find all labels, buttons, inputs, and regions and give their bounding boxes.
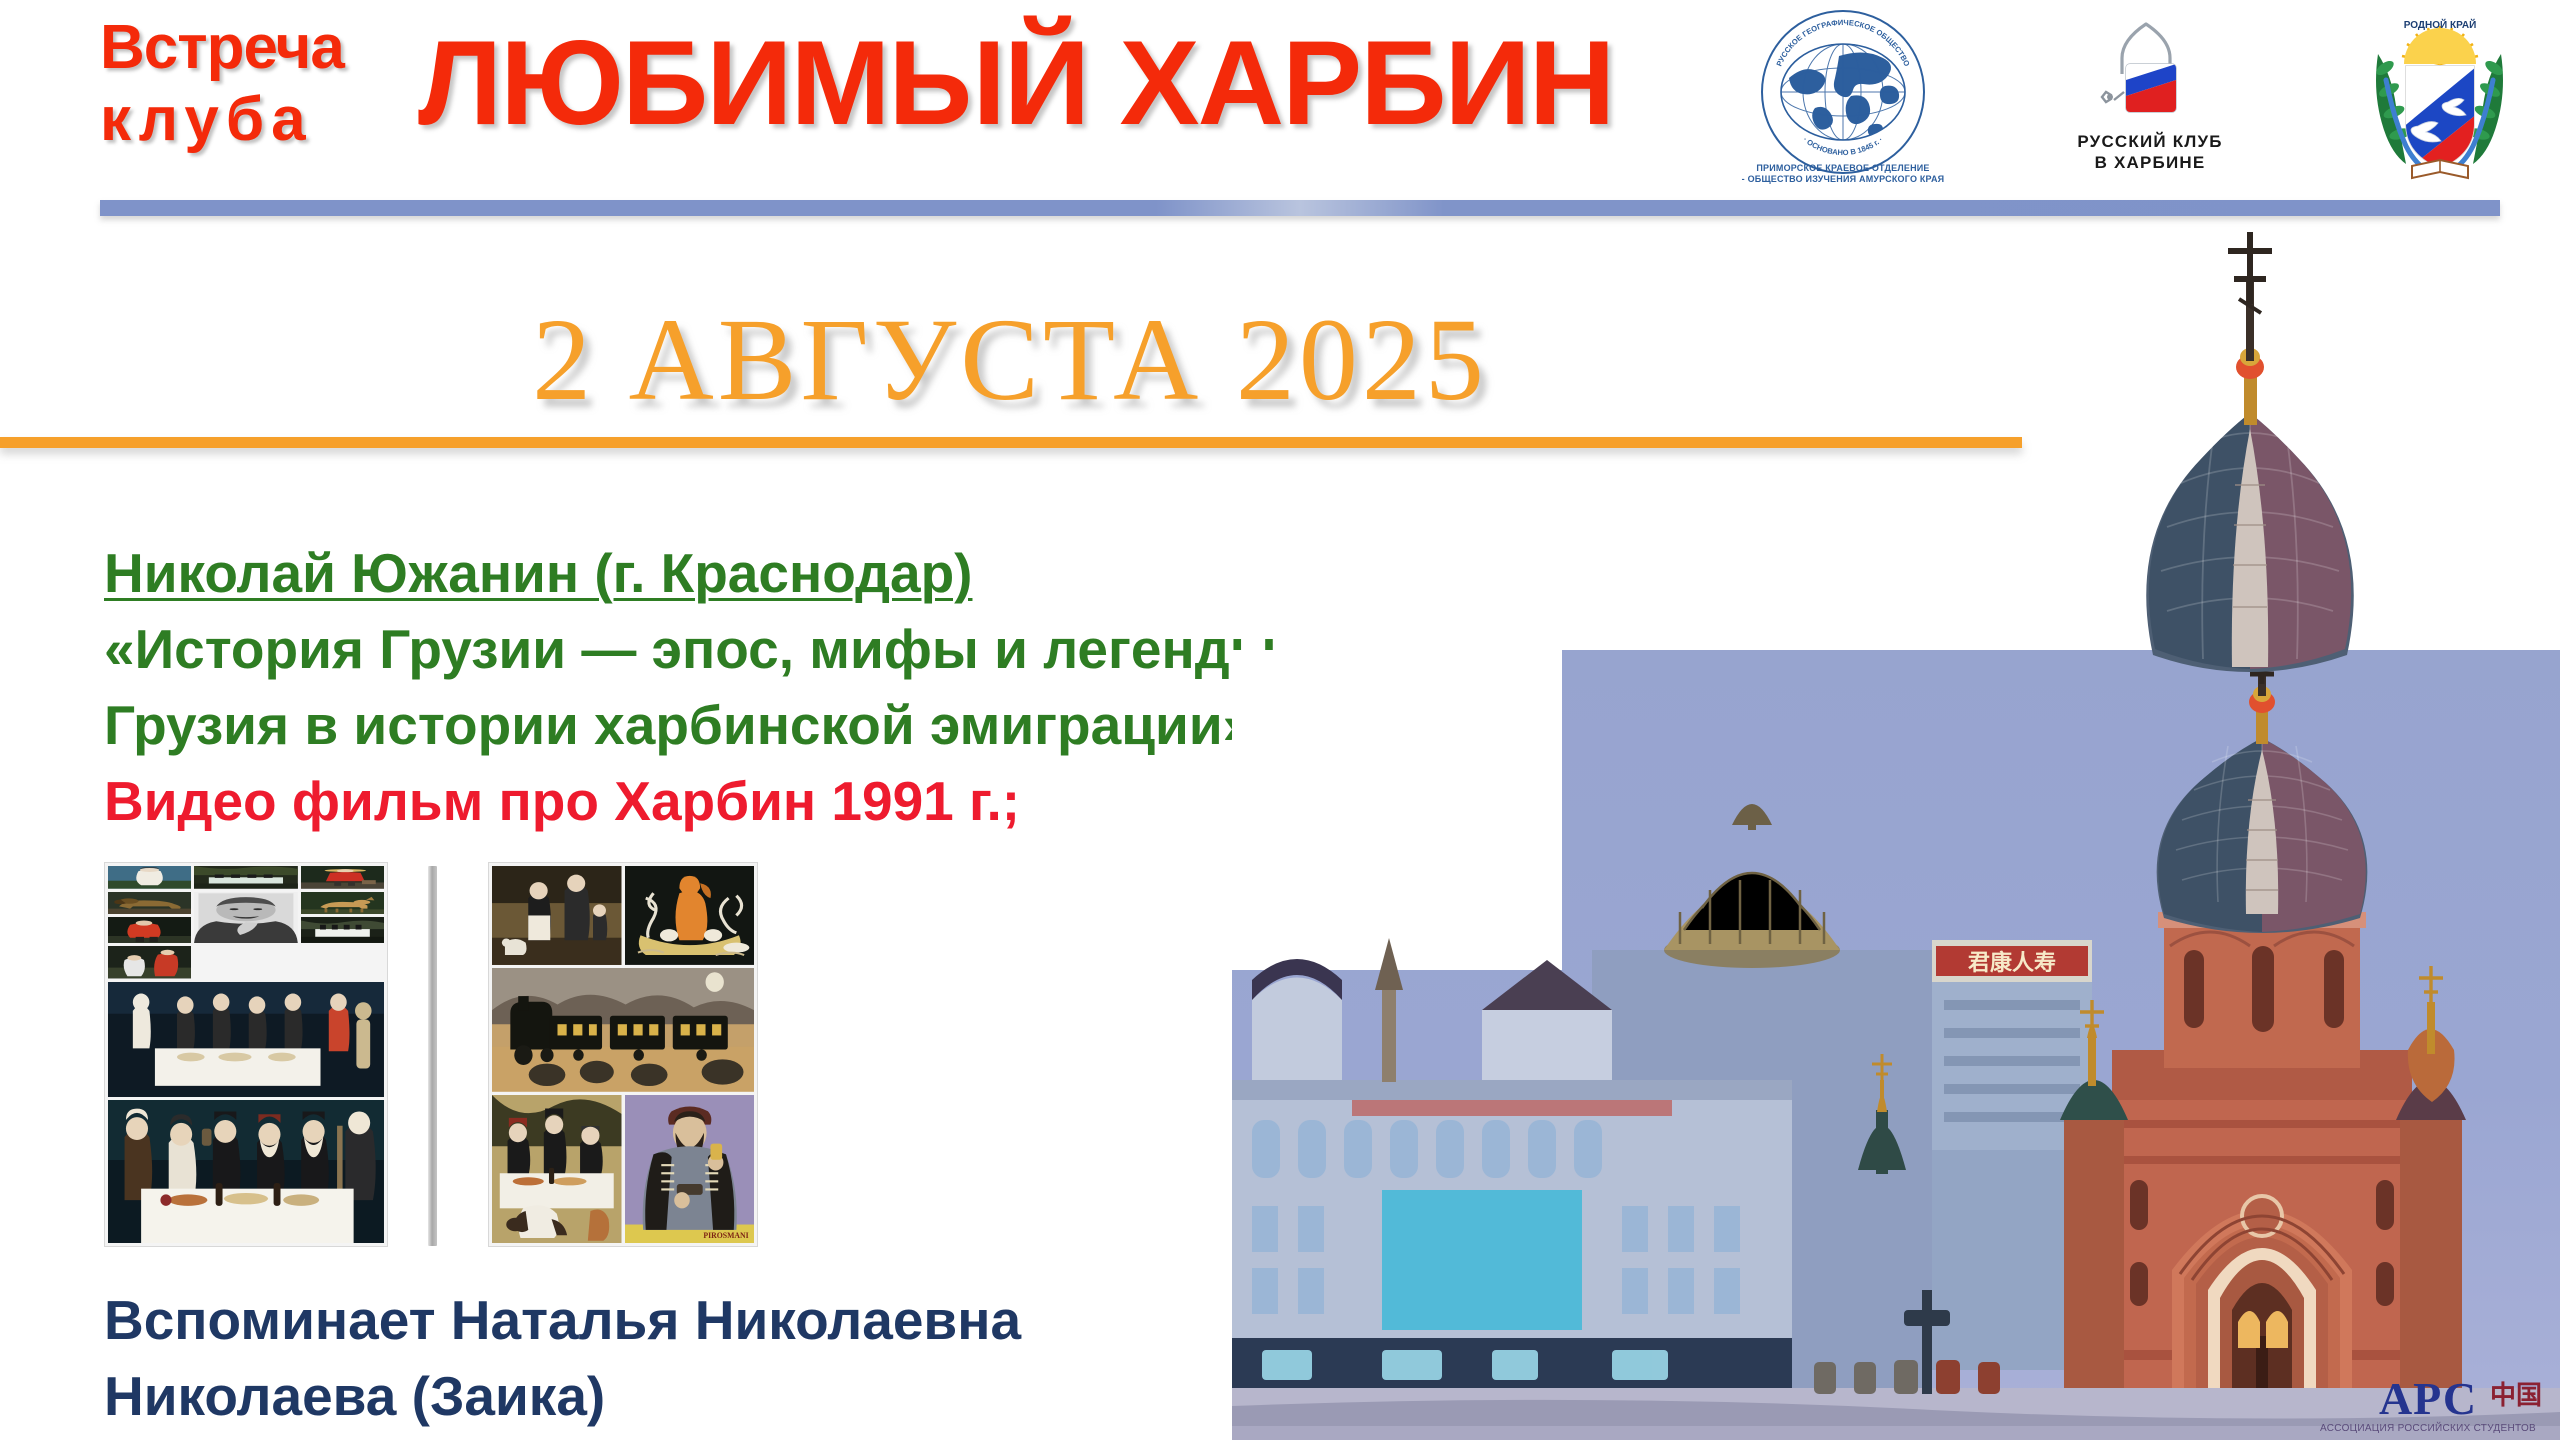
collage-divider: [428, 866, 437, 1246]
speaker-note-line2: Николаева (Заика): [104, 1358, 1304, 1434]
kokoshnik-flag-icon: [2090, 18, 2210, 126]
page-title: ЛЮБИМЫЙ ХАРБИН: [418, 8, 1613, 158]
speaker-note-line1: Вспоминает Наталья Николаевна: [104, 1282, 1304, 1358]
painting-thumb: [301, 917, 384, 943]
club-caption: РУССКИЙ КЛУБ В ХАРБИНЕ: [2040, 131, 2260, 173]
rgo-caption-line1: ПРИМОРСКОЕ КРАЕВОЕ ОТДЕЛЕНИЕ: [1738, 163, 1948, 174]
pirosmani-collage-right: PIROSMANI: [488, 862, 758, 1247]
event-date: 2 АВГУСТА 2025: [0, 285, 2020, 435]
painting-thumb: [108, 917, 191, 943]
coat-of-arms-icon: РОДНОЙ КРАЙ: [2352, 6, 2527, 186]
krai-ring-text: РОДНОЙ КРАЙ: [2404, 18, 2477, 31]
watermark-cn-text: 中国: [2490, 1382, 2542, 1408]
painting-thumb-feast: [108, 982, 384, 1097]
painting-collages: PIROSMANI: [104, 862, 784, 1252]
painting-thumb-portrait: [194, 892, 298, 944]
arc-watermark: АРС АССОЦИАЦИЯ РОССИЙСКИХ СТУДЕНТОВ 中国: [2320, 1376, 2536, 1434]
svg-text:PIROSMANI: PIROSMANI: [703, 1230, 748, 1239]
header-divider: [100, 200, 2500, 216]
rgo-caption: ПРИМОРСКОЕ КРАЕВОЕ ОТДЕЛЕНИЕ - ОБЩЕСТВО …: [1738, 163, 1948, 185]
russian-geographical-society-logo: РУССКОЕ ГЕОГРАФИЧЕСКОЕ ОБЩЕСТВО · ОСНОВА…: [1738, 0, 1948, 174]
primorsky-krai-emblem-logo: РОДНОЙ КРАЙ: [2352, 0, 2532, 191]
harbin-cathedral-photo: 君康人寿: [1232, 650, 2560, 1440]
rgo-globe-icon: РУССКОЕ ГЕОГРАФИЧЕСКОЕ ОБЩЕСТВО · ОСНОВА…: [1761, 10, 1925, 174]
watermark-sub-text: АССОЦИАЦИЯ РОССИЙСКИХ СТУДЕНТОВ: [2320, 1424, 2536, 1434]
presentation-slide: Встреча клуба ЛЮБИМЫЙ ХАРБИН: [0, 0, 2560, 1440]
painting-thumb-banquet: [108, 1100, 384, 1243]
globe-icon: РУССКОЕ ГЕОГРАФИЧЕСКОЕ ОБЩЕСТВО · ОСНОВА…: [1763, 12, 1923, 172]
russian-club-logo: РУССКИЙ КЛУБ В ХАРБИНЕ: [2040, 0, 2260, 173]
painting-thumb-dog-feast: [492, 1095, 622, 1243]
painting-thumb-train: [492, 968, 754, 1092]
speaker-note: Вспоминает Наталья Николаевна Николаева …: [104, 1282, 1304, 1434]
club-meeting-label: Встреча клуба: [100, 12, 430, 156]
date-underline-rule: [0, 437, 2022, 448]
painting-thumb-man-portrait: PIROSMANI: [625, 1095, 755, 1243]
club-caption-line1: РУССКИЙ КЛУБ: [2040, 131, 2260, 152]
cathedral-spire-overlay: [2135, 215, 2365, 685]
pirosmani-collage-left: [104, 862, 388, 1247]
program-line-speaker: Николай Южанин (г. Краснодар): [104, 535, 1524, 611]
painting-thumb: [108, 866, 191, 889]
harbin-skyline: 君康人寿: [1232, 650, 2560, 1440]
painting-thumb: [301, 892, 384, 915]
painting-thumb-stilllife: [625, 866, 755, 965]
club-label-line1: Встреча: [100, 13, 344, 82]
rgo-caption-line2: - ОБЩЕСТВО ИЗУЧЕНИЯ АМУРСКОГО КРАЯ: [1738, 174, 1948, 185]
building-sign-text: 君康人寿: [1968, 950, 2056, 976]
slide-header: Встреча клуба ЛЮБИМЫЙ ХАРБИН: [0, 0, 2560, 200]
club-caption-line2: В ХАРБИНЕ: [2040, 152, 2260, 173]
painting-thumb: [492, 866, 622, 965]
logo-group: РУССКОЕ ГЕОГРАФИЧЕСКОЕ ОБЩЕСТВО · ОСНОВА…: [1738, 0, 2532, 195]
club-label-line2: клуба: [100, 84, 430, 156]
painting-thumb: [108, 892, 191, 915]
painting-thumb: [301, 866, 384, 889]
painting-thumb: [108, 946, 191, 978]
painting-thumb: [194, 866, 298, 889]
club-flag-icon: [2090, 18, 2210, 126]
